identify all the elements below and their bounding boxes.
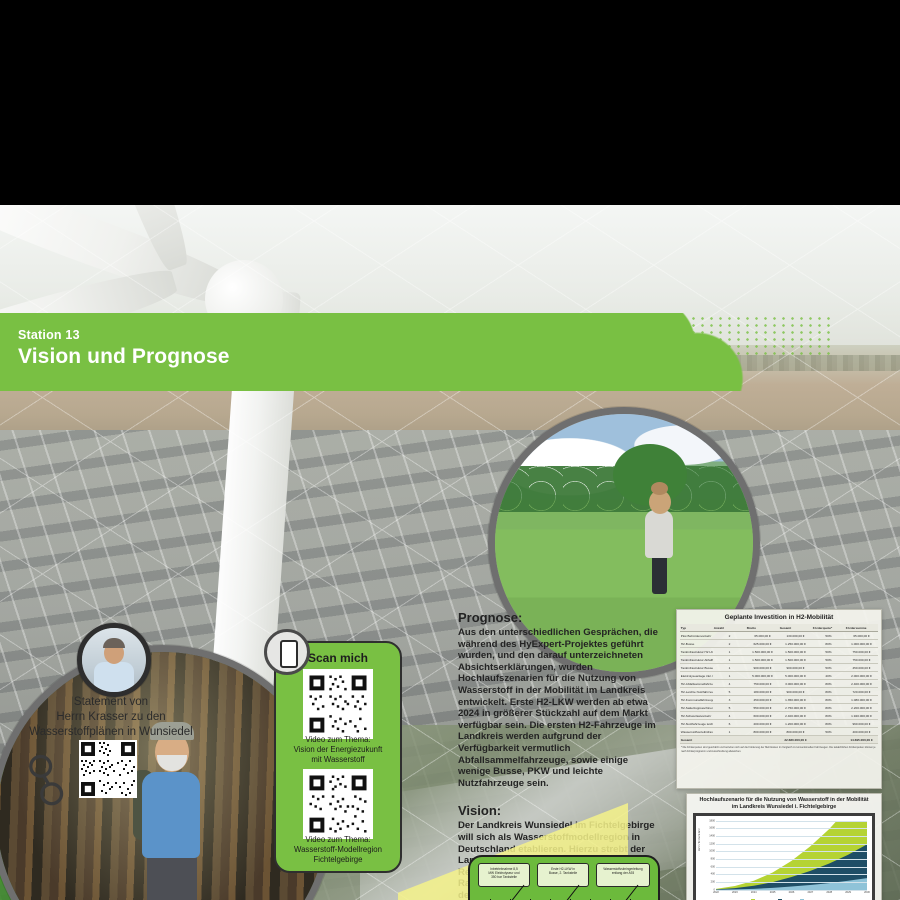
table-cell: 3 — [713, 696, 746, 704]
roadmap-timeline: 2022 2026 2030 Inbetriebnahme 8,5 MW Ele… — [468, 855, 660, 900]
table-cell: 80% — [812, 704, 845, 712]
table-cell: 960.000,00 € — [845, 720, 878, 728]
table-row: H2-Nutzfahrzeuge leicht6200.000,00 €1.20… — [680, 720, 878, 728]
table-cell: H2-Leichte Nutzfahrzeuge — [680, 688, 713, 696]
table-cell: 200.000,00 € — [746, 720, 779, 728]
chart-plot-area: 0200400600800100012001400160018002022202… — [716, 821, 867, 890]
chart-gridline — [716, 874, 867, 875]
qr-caption-2-line-2: Wasserstoff-Modellregion — [282, 845, 394, 855]
table-cell: Wasserstoffverteilinfrastruktur — [680, 728, 713, 736]
chart-gridline — [716, 844, 867, 845]
prognose-heading: Prognose: — [458, 610, 658, 625]
table-cell: 5.000.000,00 € — [779, 672, 812, 680]
table-cell: 4 — [713, 712, 746, 720]
statement-caption-line-3: Wasserstoffplänen in Wunsiedel — [0, 725, 222, 740]
chart-y-tick: 1200 — [709, 842, 715, 845]
prognose-body: Aus den unterschiedlichen Gesprächen, di… — [458, 627, 658, 789]
table-cell: 1.000.000,00 € — [845, 640, 878, 648]
chart-gridline — [716, 859, 867, 860]
chart-x-tick: 2025 — [770, 891, 776, 894]
table-cell: 50% — [812, 728, 845, 736]
table-total-cell: 22.680.000,00 € — [779, 736, 812, 744]
table-column-header: Fördersumme — [845, 624, 878, 632]
table-row: H2-Busse2625.000,00 €1.250.000,00 €80%1.… — [680, 640, 878, 648]
table-cell: 50% — [812, 656, 845, 664]
table-cell: H2-Nutzfahrzeuge leicht — [680, 720, 713, 728]
table-cell: Tankinfrastruktur Abfallfahrzeuge — [680, 656, 713, 664]
chart-title-line-2: im Landkreis Wunsiedel i. Fichtelgebirge — [693, 804, 875, 811]
table-cell: 1.500.000,00 € — [779, 648, 812, 656]
table-cell: 5 — [713, 704, 746, 712]
investment-table: TypAnzahlBruttoGesamtFörderquote*Förders… — [680, 624, 878, 744]
table-column-header: Typ — [680, 624, 713, 632]
timeline-box-top-2: Erste H2-LKW in Busse, 2. Tankstelle — [537, 863, 589, 887]
smartphone-badge — [264, 629, 310, 675]
table-cell: 80% — [812, 680, 845, 688]
table-cell: 5 — [713, 688, 746, 696]
timeline-box-top-3: Wasserstoffzubringerleitung entlang der … — [596, 863, 650, 887]
chart-x-tick: 2023 — [732, 891, 738, 894]
chart-title: Hochlaufszenario für die Nutzung von Was… — [687, 794, 881, 813]
table-cell: 720.000,00 € — [845, 688, 878, 696]
chart-gridline — [716, 836, 867, 837]
table-cell: 1 — [713, 664, 746, 672]
chart-area-series — [716, 821, 867, 890]
chart-y-tick: 600 — [711, 865, 715, 868]
station-number: Station 13 — [18, 328, 80, 342]
table-cell: 1.500.000,00 € — [779, 656, 812, 664]
table-cell: H2-Abfallsammelfahrzeuge — [680, 680, 713, 688]
table-cell: 130.000,00 € — [779, 632, 812, 640]
chain-link-icon — [26, 753, 70, 809]
speaker-shirt — [94, 662, 134, 696]
table-row: H2-Sattelzugmaschinen5550.000,00 €2.750.… — [680, 704, 878, 712]
chart-gridline — [716, 882, 867, 883]
chart-x-tick: 2024 — [751, 891, 757, 894]
table-cell: 1.500.000,00 € — [746, 656, 779, 664]
table-cell: 750.000,00 € — [845, 648, 878, 656]
table-cell: 2.400.000,00 € — [845, 680, 878, 688]
chart-title-line-1: Hochlaufszenario für die Nutzung von Was… — [693, 797, 875, 804]
table-cell: 6 — [713, 720, 746, 728]
table-cell: 180.000,00 € — [746, 688, 779, 696]
chart-y-tick: 1600 — [709, 827, 715, 830]
table-row: Tankinfrastruktur Busse 350 bar1900.000,… — [680, 664, 878, 672]
investment-table-note: * Die Förderquoten sind geschätzt und be… — [680, 744, 878, 753]
hiker-shirt — [142, 772, 200, 858]
table-cell: 1.250.000,00 € — [779, 640, 812, 648]
timeline-box-top-1: Inbetriebnahme 8,5 MW Elektrolyseur und … — [478, 863, 530, 887]
vision-heading: Vision: — [458, 803, 658, 818]
table-total-cell: Gesamt — [680, 736, 713, 744]
chart-y-tick: 800 — [711, 857, 715, 860]
chart-gridline — [716, 828, 867, 829]
qr-caption-1: Video zum Thema: Vision der Energiezukun… — [282, 735, 394, 765]
table-cell: 2 — [713, 640, 746, 648]
timeline-box-top-2-line-2: Busse, 2. Tankstelle — [540, 871, 586, 875]
table-cell: 900.000,00 € — [746, 664, 779, 672]
table-cell: 40% — [812, 672, 845, 680]
table-column-header: Gesamt — [779, 624, 812, 632]
chart-x-tick: 2030 — [864, 891, 870, 894]
chart-x-tick: 2029 — [845, 891, 851, 894]
table-cell: H2-Busse — [680, 640, 713, 648]
table-cell: H2-Kommunalfahrzeuge — [680, 696, 713, 704]
table-cell: 750.000,00 € — [746, 680, 779, 688]
table-row: H2-Abfallsammelfahrzeuge4750.000,00 €3.0… — [680, 680, 878, 688]
table-total-cell — [812, 736, 845, 744]
qr-caption-2: Video zum Thema: Wasserstoff-Modellregio… — [282, 835, 394, 865]
table-cell: 1 — [713, 728, 746, 736]
table-total-cell — [713, 736, 746, 744]
table-cell: 1.200.000,00 € — [779, 720, 812, 728]
qr-caption-2-line-3: Fichtelgebirge — [282, 855, 394, 865]
timeline-box-top-3-line-2: entlang der A93 — [599, 871, 647, 875]
table-cell: 65.000,00 € — [845, 632, 878, 640]
chart-gridline — [716, 851, 867, 852]
table-row: Wasserstoffverteilinfrastruktur1800.000,… — [680, 728, 878, 736]
table-cell: 800.000,00 € — [779, 728, 812, 736]
table-cell: 550.000,00 € — [746, 704, 779, 712]
qr-code-video-2[interactable] — [303, 769, 373, 839]
chart-x-tick: 2028 — [826, 891, 832, 894]
table-cell: 400.000,00 € — [845, 728, 878, 736]
table-cell: 80% — [812, 696, 845, 704]
screenshot-root: Station 13 Vision und Prognose — [0, 0, 900, 900]
page-title: Vision und Prognose — [18, 345, 230, 369]
table-header-row: TypAnzahlBruttoGesamtFörderquote*Förders… — [680, 624, 878, 632]
table-cell: 1 — [713, 648, 746, 656]
table-cell: 3.000.000,00 € — [779, 680, 812, 688]
qr-caption-2-line-1: Video zum Thema: — [282, 835, 394, 845]
table-total-cell — [746, 736, 779, 744]
chart-x-tick: 2026 — [789, 891, 795, 894]
qr-code-video-1[interactable] — [303, 669, 373, 739]
table-cell: 50% — [812, 648, 845, 656]
chart-y-tick: 1400 — [709, 834, 715, 837]
table-column-header: Förderquote* — [812, 624, 845, 632]
statement-qr-code[interactable] — [79, 740, 137, 798]
table-cell: H2-Sattelzugmaschinen — [680, 704, 713, 712]
table-column-header: Brutto — [746, 624, 779, 632]
table-cell: 1 — [713, 672, 746, 680]
table-row: Tankinfrastruktur Abfallfahrzeuge11.500.… — [680, 656, 878, 664]
table-cell: 80% — [812, 688, 845, 696]
table-cell: 450.000,00 € — [746, 696, 779, 704]
table-cell: 900.000,00 € — [779, 664, 812, 672]
hochlauf-chart-card: Hochlaufszenario für die Nutzung von Was… — [686, 793, 882, 900]
child-legs — [652, 554, 667, 594]
table-cell: 900.000,00 € — [779, 688, 812, 696]
table-total-cell: 14.695.000,00 € — [845, 736, 878, 744]
table-cell: 2.400.000,00 € — [779, 712, 812, 720]
chart-y-tick: 200 — [711, 880, 715, 883]
chart-x-tick: 2022 — [713, 891, 719, 894]
table-cell: 80% — [812, 640, 845, 648]
table-cell: 5.000.000,00 € — [746, 672, 779, 680]
table-cell: 2.000.000,00 € — [845, 672, 878, 680]
qr-caption-1-line-1: Video zum Thema: — [282, 735, 394, 745]
table-cell: 1.920.000,00 € — [845, 712, 878, 720]
table-cell: Tankinfrastruktur H2 LKW 350 bar — [680, 648, 713, 656]
table-row: H2-Kommunalfahrzeuge3450.000,00 €1.350.0… — [680, 696, 878, 704]
table-row: Tankinfrastruktur H2 LKW 350 bar11.500.0… — [680, 648, 878, 656]
table-cell: Pkw Behördenverkehr — [680, 632, 713, 640]
chart-frame: H2 in Tonnen/Jahr 0200400600800100012001… — [693, 813, 875, 900]
table-row: Pkw Behördenverkehr265.000,00 €130.000,0… — [680, 632, 878, 640]
table-cell: 50% — [812, 632, 845, 640]
table-cell: 450.000,00 € — [845, 664, 878, 672]
chart-gridline — [716, 821, 867, 822]
speaker-avatar — [77, 623, 151, 697]
qr-caption-1-line-3: mit Wasserstoff — [282, 755, 394, 765]
table-cell: 80% — [812, 712, 845, 720]
chart-y-tick: 400 — [711, 873, 715, 876]
investment-table-title: Geplante Investition in H2-Mobilität — [680, 612, 878, 624]
table-cell: 65.000,00 € — [746, 632, 779, 640]
hiker-legs — [147, 852, 197, 900]
table-body: Pkw Behördenverkehr265.000,00 €130.000,0… — [680, 632, 878, 744]
table-row: H2-Schwerlastverkehr4600.000,00 €2.400.0… — [680, 712, 878, 720]
table-row: H2-Leichte Nutzfahrzeuge5180.000,00 €900… — [680, 688, 878, 696]
child-body — [645, 510, 673, 558]
table-cell: 600.000,00 € — [746, 712, 779, 720]
qr-caption-1-line-2: Vision der Energiezukunft — [282, 745, 394, 755]
qr-scan-panel[interactable]: Scan mich — [274, 641, 402, 873]
chart-y-tick: 1800 — [709, 819, 715, 822]
table-column-header: Anzahl — [713, 624, 746, 632]
table-cell: 80% — [812, 720, 845, 728]
table-cell: 625.000,00 € — [746, 640, 779, 648]
table-cell: 1.080.000,00 € — [845, 696, 878, 704]
table-row: Elektrolyseanlage inkl. Peripherie15.000… — [680, 672, 878, 680]
table-cell: 1.350.000,00 € — [779, 696, 812, 704]
exhibition-poster: Station 13 Vision und Prognose — [0, 205, 900, 900]
table-cell: 2.200.000,00 € — [845, 704, 878, 712]
timeline-box-top-1-line-3: 350 bar Tankstelle — [481, 875, 527, 879]
child-hair — [651, 482, 668, 495]
chart-gridline — [716, 867, 867, 868]
table-cell: 750.000,00 € — [845, 656, 878, 664]
table-total-row: Gesamt22.680.000,00 €14.695.000,00 € — [680, 736, 878, 744]
chart-x-tick: 2027 — [807, 891, 813, 894]
table-cell: 2 — [713, 632, 746, 640]
brush-speckles-decor — [590, 315, 830, 355]
table-cell: 800.000,00 € — [746, 728, 779, 736]
table-cell: 4 — [713, 680, 746, 688]
smartphone-icon — [280, 640, 298, 668]
table-cell: Elektrolyseanlage inkl. Peripherie — [680, 672, 713, 680]
table-cell: 1 — [713, 656, 746, 664]
chart-y-axis-label: H2 in Tonnen/Jahr — [697, 828, 701, 851]
table-cell: Tankinfrastruktur Busse 350 bar — [680, 664, 713, 672]
investment-table-card: Geplante Investition in H2-Mobilität Typ… — [676, 609, 882, 789]
statement-caption-line-1: Statement von — [0, 695, 222, 710]
chart-y-tick: 1000 — [709, 850, 715, 853]
table-cell: 2.750.000,00 € — [779, 704, 812, 712]
table-cell: 50% — [812, 664, 845, 672]
statement-caption: Statement von Herrn Krasser zu den Wasse… — [0, 695, 222, 740]
table-cell: 1.500.000,00 € — [746, 648, 779, 656]
table-cell: H2-Schwerlastverkehr — [680, 712, 713, 720]
statement-caption-line-2: Herrn Krasser zu den — [0, 710, 222, 725]
